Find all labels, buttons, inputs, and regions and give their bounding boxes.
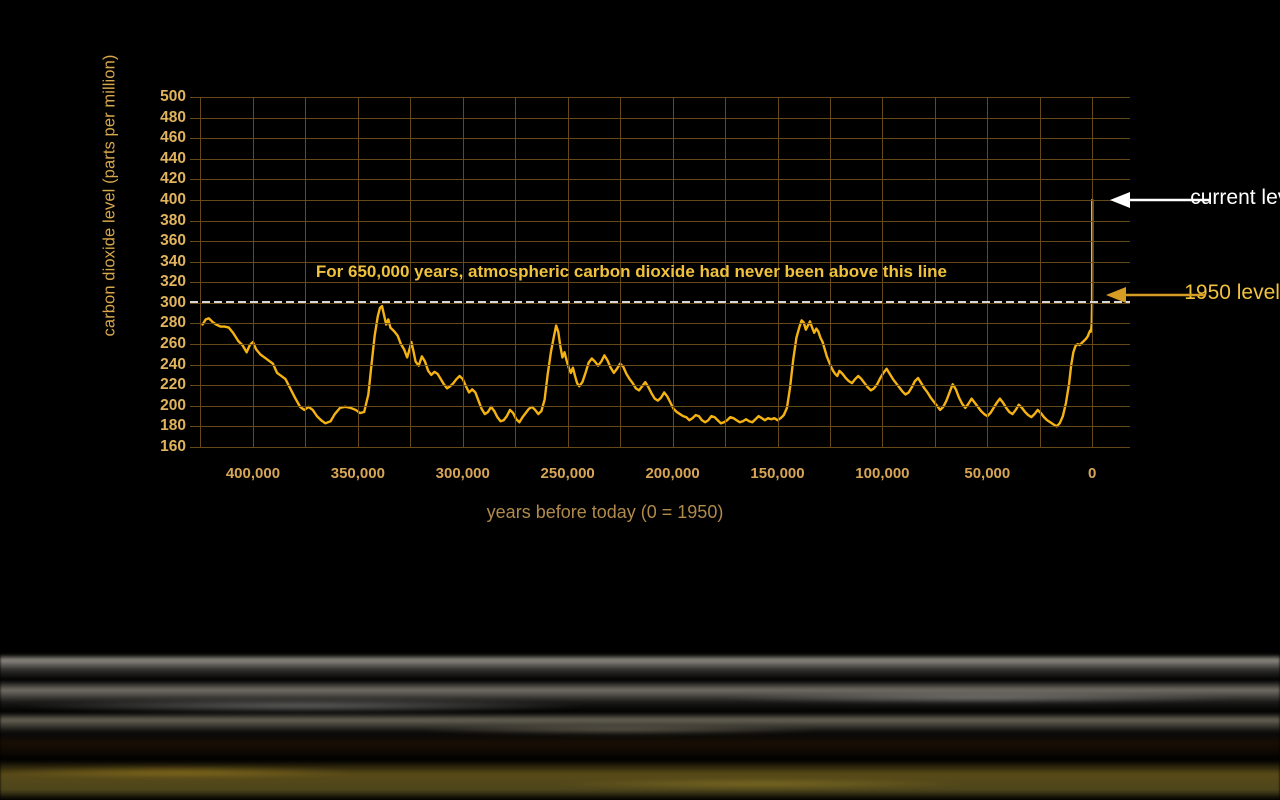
gridline-horizontal	[190, 406, 1130, 407]
y-axis-tick-200: 200	[140, 397, 186, 415]
gridline-horizontal	[190, 159, 1130, 160]
y-axis-tick-380: 380	[140, 212, 186, 230]
gridline-vertical	[305, 97, 306, 447]
y-axis-tick-280: 280	[140, 314, 186, 332]
gridline-horizontal	[190, 221, 1130, 222]
gridline-horizontal	[190, 97, 1130, 98]
y-axis-tick-160: 160	[140, 438, 186, 456]
x-axis-tick-200000: 200,000	[645, 465, 699, 482]
y-axis-tick-340: 340	[140, 253, 186, 271]
gridline-vertical	[1092, 97, 1093, 447]
x-axis-tick-labels: 400,000350,000300,000250,000200,000150,0…	[190, 465, 1130, 487]
gridline-horizontal	[190, 344, 1130, 345]
y-axis-tick-240: 240	[140, 356, 186, 374]
gridline-horizontal	[190, 426, 1130, 427]
annotation-threshold-note: For 650,000 years, atmospheric carbon di…	[316, 262, 947, 282]
gridline-horizontal	[190, 200, 1130, 201]
y-axis-tick-260: 260	[140, 335, 186, 353]
gridline-horizontal	[190, 323, 1130, 324]
gridline-vertical	[987, 97, 988, 447]
gridline-vertical	[253, 97, 254, 447]
gridline-horizontal	[190, 179, 1130, 180]
gridline-horizontal	[190, 303, 1130, 304]
gridline-horizontal	[190, 241, 1130, 242]
y-axis-tick-320: 320	[140, 273, 186, 291]
gridline-vertical	[1040, 97, 1041, 447]
gridline-vertical	[200, 97, 201, 447]
y-axis-tick-420: 420	[140, 170, 186, 188]
y-axis-tick-400: 400	[140, 191, 186, 209]
x-axis-tick-100000: 100,000	[855, 465, 909, 482]
screenshot-root: carbon dioxide level (parts per million)…	[0, 0, 1280, 800]
x-axis-tick-300000: 300,000	[436, 465, 490, 482]
gridline-horizontal	[190, 447, 1130, 448]
x-axis-tick-150000: 150,000	[750, 465, 804, 482]
co2-chart: carbon dioxide level (parts per million)…	[0, 0, 1280, 800]
y-axis-tick-360: 360	[140, 232, 186, 250]
y-axis-tick-460: 460	[140, 129, 186, 147]
gridline-horizontal	[190, 118, 1130, 119]
x-axis-tick-50000: 50,000	[964, 465, 1010, 482]
x-axis-tick-250000: 250,000	[541, 465, 595, 482]
x-axis-tick-350000: 350,000	[331, 465, 385, 482]
gridline-horizontal	[190, 138, 1130, 139]
threshold-dashed-line	[190, 301, 1130, 303]
gridline-horizontal	[190, 282, 1130, 283]
x-axis-title: years before today (0 = 1950)	[190, 502, 1020, 523]
y-axis-tick-300: 300	[140, 294, 186, 312]
gridline-horizontal	[190, 385, 1130, 386]
y-axis-tick-220: 220	[140, 376, 186, 394]
y-axis-tick-500: 500	[140, 88, 186, 106]
y-axis-tick-labels: 5004804604404204003803603403203002802602…	[140, 97, 186, 447]
1950-level-arrow-icon	[1098, 283, 1208, 307]
x-axis-tick-400000: 400,000	[226, 465, 280, 482]
plot-area: For 650,000 years, atmospheric carbon di…	[190, 97, 1130, 447]
current-level-arrow-icon	[1102, 188, 1212, 212]
gridline-horizontal	[190, 365, 1130, 366]
y-axis-title: carbon dioxide level (parts per million)	[101, 6, 120, 386]
y-axis-tick-180: 180	[140, 417, 186, 435]
y-axis-tick-480: 480	[140, 109, 186, 127]
y-axis-tick-440: 440	[140, 150, 186, 168]
x-axis-tick-0: 0	[1088, 465, 1096, 482]
